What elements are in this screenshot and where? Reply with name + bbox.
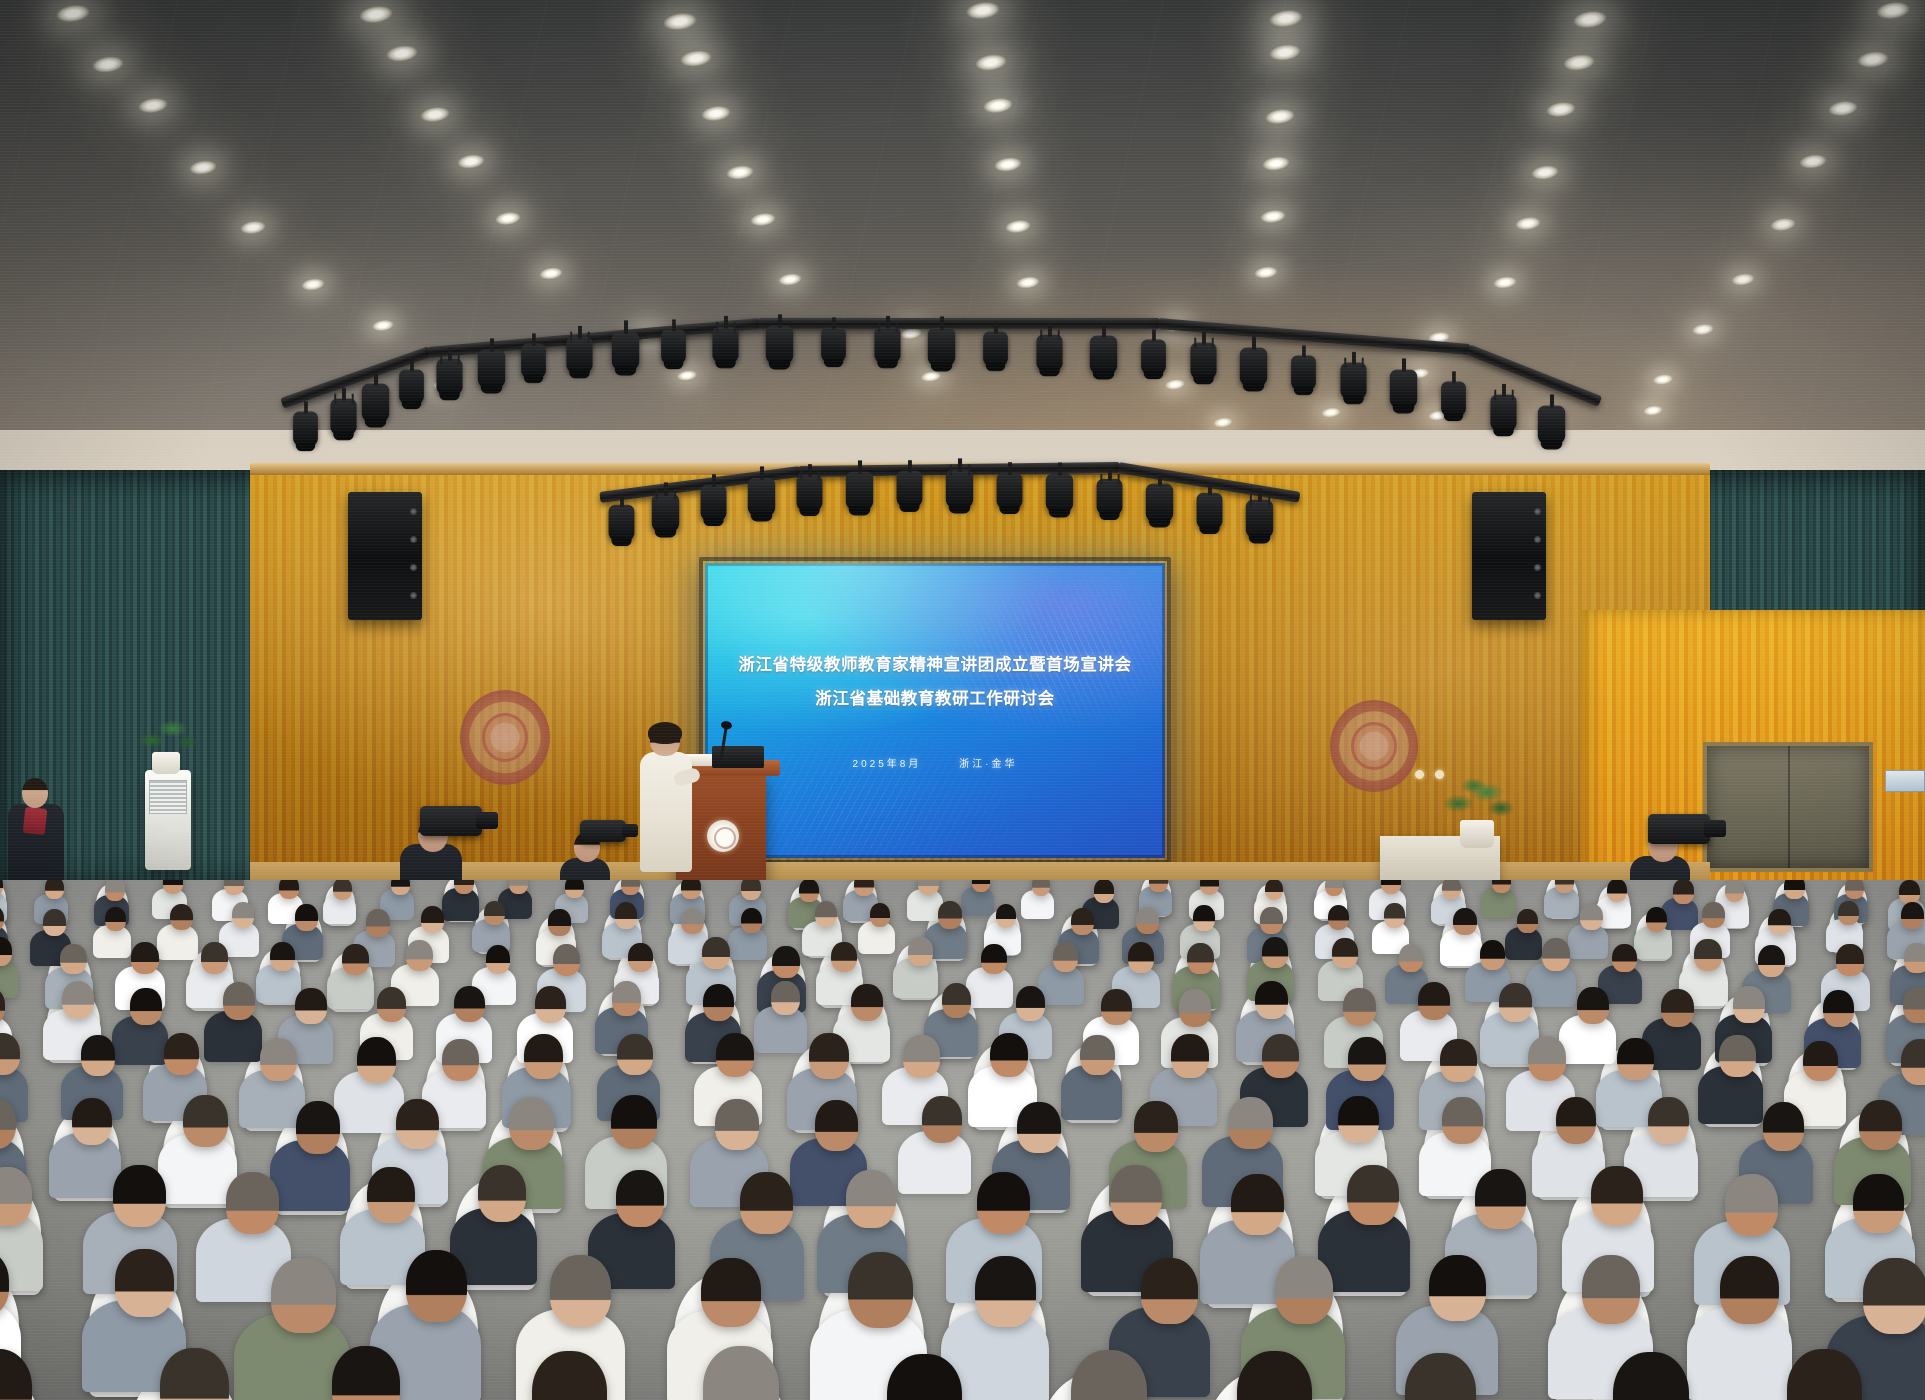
audience-member-head	[105, 880, 125, 901]
audience-member-head	[903, 1035, 940, 1078]
audience-member-head	[681, 908, 704, 935]
audience-member-head	[113, 1165, 165, 1226]
audience-member-head	[396, 1099, 439, 1149]
audience-member-head	[1836, 944, 1863, 976]
stage-light-fixture	[846, 472, 874, 511]
audience-member-head	[942, 983, 972, 1018]
audience-member-head	[1265, 880, 1284, 900]
stage-light-fixture	[609, 505, 635, 541]
audience-member-head	[1347, 1165, 1398, 1225]
audience-member-head	[1556, 1097, 1597, 1144]
audience-member-head	[1803, 1041, 1838, 1081]
audience-member-head	[1612, 944, 1637, 973]
audience-member-head	[740, 1172, 792, 1233]
stage-light-fixture	[821, 328, 846, 363]
audience-member-head	[1517, 909, 1538, 933]
audience-member-head	[1499, 983, 1532, 1021]
audience-member-head	[1016, 986, 1045, 1020]
audience-member-head	[1053, 942, 1079, 972]
stage-plant-leaves	[1440, 770, 1516, 826]
led-presentation-screen: 浙江省特级教师教育家精神宣讲团成立暨首场宣讲会 浙江省基础教育教研工作研讨会 2…	[705, 563, 1165, 858]
audience-member-head	[1348, 1037, 1386, 1081]
truss-bar	[758, 318, 1160, 329]
audience-member-head	[1384, 903, 1405, 927]
audience-member-head	[846, 1170, 896, 1229]
audience-member-head	[1838, 901, 1859, 925]
audience-member-head	[741, 908, 762, 933]
audience-member-head	[1582, 1255, 1640, 1323]
audience-member-head	[851, 984, 882, 1021]
screen-title-line-2: 浙江省基础教育教研工作研讨会	[705, 685, 1165, 709]
stage-light-fixture	[1291, 356, 1316, 391]
screen-location: 浙江·金华	[959, 759, 1017, 770]
audience-member-head	[279, 880, 299, 899]
audience-member-head	[81, 1035, 115, 1075]
audience-member-head	[1542, 938, 1570, 971]
stage-light-fixture	[748, 478, 776, 517]
stage-light-fixture	[293, 412, 318, 447]
audience-member-head	[741, 880, 761, 900]
crest-inner-ring-right	[1351, 722, 1397, 770]
audience-member-head	[1141, 1258, 1198, 1324]
audience-member-head	[870, 903, 891, 927]
audience-member-head	[1863, 1258, 1925, 1334]
audience-member-head	[715, 1099, 759, 1150]
audience-member-head	[1134, 1101, 1178, 1152]
audience-member-head	[62, 981, 94, 1019]
audience-member-head	[848, 1252, 913, 1328]
audience-member-head	[1580, 904, 1602, 930]
audience-member-head	[377, 987, 407, 1022]
audience-member-head	[1228, 1097, 1273, 1150]
audience-member-head	[611, 1095, 657, 1149]
audience-member-head	[163, 880, 183, 894]
stage-light-fixture	[436, 359, 462, 396]
audience-member-head	[342, 944, 369, 975]
audience-member-head	[809, 1033, 848, 1079]
audience-member-head	[1648, 1097, 1689, 1145]
audience-member-head	[232, 902, 254, 928]
audience-member-head	[486, 945, 511, 974]
stage-light-fixture	[712, 327, 738, 364]
audience-member-head	[1859, 1100, 1902, 1150]
audience-seating-area	[0, 880, 1925, 1400]
audience-member-head	[130, 988, 161, 1024]
audience-member-head	[701, 1258, 760, 1327]
side-exit-door[interactable]	[1703, 742, 1873, 872]
stage-light-fixture	[399, 370, 424, 405]
audience-member-head	[223, 982, 255, 1020]
audience-member-head	[981, 944, 1007, 974]
audience-member-head	[1903, 987, 1925, 1023]
audience-member-head	[1179, 989, 1211, 1026]
school-crest-emblem-left	[460, 690, 550, 785]
stage-light-fixture	[874, 327, 900, 364]
audience-member-head	[131, 942, 159, 974]
usher-neck-scarf	[23, 807, 48, 835]
stage-light-fixture	[478, 350, 506, 389]
audience-member-head	[1128, 942, 1155, 973]
camera-lens-center	[622, 824, 638, 837]
audience-member-head	[1136, 907, 1159, 934]
audience-member-head	[1255, 981, 1288, 1020]
stage-light-fixture	[1197, 493, 1223, 529]
audience-member-head	[1733, 986, 1764, 1023]
audience-member-head	[105, 907, 126, 932]
audience-member-head	[702, 937, 730, 969]
audience-member-head	[990, 1033, 1028, 1078]
audience-member-head	[296, 1101, 341, 1153]
audience-member-head	[975, 1256, 1035, 1326]
audience-member-head	[938, 901, 962, 929]
audience-member-head	[524, 1034, 563, 1079]
audience-member-head	[1661, 989, 1694, 1028]
audience-member-head	[1442, 1097, 1482, 1144]
audience-member-head	[442, 1039, 478, 1081]
audience-member-head	[535, 986, 566, 1023]
stage-light-fixture	[946, 470, 974, 509]
audience-member-head	[815, 901, 837, 927]
audience-member-head	[43, 909, 66, 936]
audience-member-head	[703, 984, 735, 1021]
exit-sign	[1885, 770, 1925, 792]
audience-member-head	[1607, 880, 1627, 902]
audience-member-head	[454, 986, 485, 1023]
audience-member-head	[1110, 1165, 1161, 1225]
audience-member-head	[1823, 990, 1855, 1027]
audience-member-head	[1343, 988, 1376, 1026]
audience-member-head	[1904, 943, 1925, 972]
stage-light-fixture	[928, 328, 956, 367]
stage-light-fixture	[1490, 395, 1516, 432]
audience-member-head	[1719, 1035, 1755, 1077]
audience-member-head	[1231, 1174, 1284, 1236]
audience-member-head	[550, 1255, 611, 1326]
audience-member-head	[226, 1172, 279, 1234]
audience-member-head	[1399, 944, 1423, 972]
stage-light-fixture	[897, 471, 923, 507]
audience-member-head	[628, 943, 653, 972]
audience-member-head	[1032, 880, 1050, 896]
audience-member-head	[1193, 905, 1215, 931]
stage-plant-pot	[1460, 820, 1494, 848]
audience-member-head	[681, 880, 700, 899]
staff-usher	[8, 778, 64, 894]
audience-member-head	[1187, 943, 1214, 974]
audience-member-head	[996, 904, 1017, 928]
audience-member-head	[1080, 1035, 1114, 1075]
audience-member-head	[1725, 1174, 1778, 1236]
audience-member-head	[478, 1165, 527, 1222]
stage-light-fixture	[701, 485, 727, 521]
audience-member-head	[1591, 1166, 1642, 1226]
audience-member-head	[1758, 945, 1786, 977]
left-plant-pot	[152, 752, 180, 774]
audience-member-head	[295, 988, 326, 1024]
audience-member-head	[1725, 880, 1745, 902]
audience-member-head	[799, 880, 819, 902]
presenter	[640, 724, 692, 872]
audience-member-head	[1901, 1039, 1925, 1084]
stage-light-fixture	[1046, 474, 1074, 513]
audience-member-head	[224, 880, 244, 895]
screen-date: 2025年8月	[853, 759, 922, 770]
stage-light-fixture	[652, 494, 680, 533]
audience-member-head	[45, 880, 64, 899]
audience-member-head	[1480, 940, 1505, 970]
stage-light-fixture	[661, 330, 686, 365]
audience-member-head	[1673, 880, 1694, 904]
stage-light-fixture	[1090, 336, 1118, 375]
stage-light-fixture	[1441, 382, 1466, 417]
audience-member-head	[357, 1037, 396, 1083]
stage-light-fixture	[1538, 406, 1566, 445]
audience-member-head	[918, 880, 938, 895]
audience-member-head	[615, 902, 638, 929]
presenter-hair	[648, 722, 682, 744]
audience-member-head	[183, 1095, 227, 1147]
audience-member-head	[1646, 907, 1667, 932]
audience-member-head	[60, 944, 86, 975]
audience-member-head	[509, 1097, 555, 1150]
audience-member-head	[295, 904, 318, 931]
audience-member-head	[548, 909, 571, 935]
audience-member-head	[1328, 905, 1350, 931]
audience-member-head	[617, 1034, 652, 1075]
audience-member-head	[1071, 908, 1094, 935]
stage-light-fixture	[521, 344, 546, 379]
auditorium-scene: 浙江省特级教师教育家精神宣讲团成立暨首场宣讲会 浙江省基础教育教研工作研讨会 2…	[0, 0, 1925, 1400]
stage-light-fixture	[1141, 340, 1166, 375]
audience-member-head	[366, 909, 390, 936]
audience-member-head	[1577, 987, 1608, 1024]
audience-member-head	[1453, 908, 1477, 936]
audience-member-head	[406, 1250, 468, 1322]
video-camera-left	[420, 806, 482, 836]
audience-member-head	[1262, 937, 1288, 967]
audience-member-head	[1899, 880, 1920, 904]
audience-member-head	[1845, 880, 1864, 899]
audience-member-head	[1325, 880, 1343, 896]
audience-member-head	[270, 942, 295, 971]
audience-member-head	[1429, 1255, 1486, 1321]
audience-member-head	[553, 944, 580, 976]
audience-member-head	[1853, 1174, 1903, 1233]
audience-member-head	[1763, 1102, 1804, 1150]
audience-member-head	[612, 981, 642, 1015]
stage-light-fixture	[997, 473, 1023, 509]
audience-member-head	[1440, 1039, 1477, 1082]
stage-light-fixture	[1190, 343, 1216, 380]
video-camera-center	[580, 820, 626, 842]
audience-member-head	[1617, 1038, 1654, 1081]
audience-member-head	[772, 946, 799, 978]
stage-light-fixture	[1390, 370, 1418, 409]
stage-light-fixture	[330, 399, 356, 436]
audience-member-head	[115, 1249, 173, 1317]
video-camera-right	[1648, 814, 1710, 844]
crest-inner-ring-left	[482, 713, 529, 762]
audience-member-head	[333, 880, 352, 900]
camera-lens-left	[476, 812, 498, 829]
stage-light-fixture	[983, 332, 1008, 367]
line-array-speaker-right	[1472, 492, 1546, 620]
line-array-speaker-left	[348, 492, 422, 620]
audience-member-head	[716, 1033, 754, 1077]
audience-member-head	[1332, 938, 1357, 968]
stage-light-fixture	[1240, 348, 1268, 387]
audience-member-head	[72, 1098, 113, 1145]
portable-air-conditioner	[145, 770, 191, 870]
podium-emblem	[707, 820, 739, 852]
stage-light-fixture	[362, 384, 390, 423]
stage-light-fixture	[1097, 479, 1123, 515]
audience-member-head	[201, 942, 228, 973]
audience-member-head	[1901, 902, 1925, 929]
camera-lens-right	[1704, 820, 1726, 837]
audience-member-head	[1768, 909, 1791, 936]
school-crest-emblem-right	[1330, 700, 1418, 792]
audience-member-head	[815, 1100, 858, 1150]
audience-member-head	[367, 1167, 415, 1223]
screen-title-line-1: 浙江省特级教师教育家精神宣讲团成立暨首场宣讲会	[705, 651, 1165, 675]
audience-member-head	[271, 1258, 335, 1333]
audience-member-head	[1528, 1036, 1567, 1081]
stage-light-fixture	[797, 475, 823, 511]
audience-member-head	[484, 901, 505, 925]
audience-member-head	[1702, 902, 1724, 928]
audience-member-head	[1475, 1169, 1526, 1229]
audience-member-head	[1260, 907, 1283, 933]
audience-member-head	[391, 880, 410, 895]
audience-member-head	[1784, 880, 1804, 899]
audience-member-head	[164, 1033, 200, 1074]
audience-member-head	[1094, 880, 1114, 903]
stage-light-fixture	[612, 332, 640, 371]
audience-member-head	[421, 906, 444, 933]
audience-member-head	[616, 1170, 664, 1227]
audience-member-head	[977, 1172, 1030, 1234]
audience-member-head	[170, 904, 193, 931]
audience-member-head	[1017, 1102, 1061, 1153]
audience-member-head	[260, 1038, 297, 1081]
stage-light-fixture	[1340, 363, 1366, 400]
usher-head	[22, 778, 48, 808]
audience-member-head	[922, 1096, 962, 1143]
audience-member-head	[1694, 939, 1721, 971]
audience-member-head	[1171, 1034, 1208, 1078]
stage-light-fixture	[1246, 500, 1274, 539]
audience-member-head	[1418, 982, 1450, 1020]
stage-light-fixture	[766, 326, 794, 365]
audience-member-head	[908, 937, 933, 966]
audience-member-head	[1275, 1256, 1333, 1324]
audience-member-head	[1101, 989, 1132, 1025]
audience-member-head	[1338, 1096, 1379, 1143]
air-conditioner-grill	[149, 780, 187, 814]
audience-member-head	[1720, 1256, 1779, 1324]
audience-member-head	[1262, 1034, 1300, 1078]
audience-member-head	[831, 942, 857, 972]
stage-light-fixture	[1036, 335, 1062, 372]
audience-member-head	[406, 940, 433, 971]
stage-light-fixture	[1146, 484, 1174, 523]
audience-member-head	[771, 981, 800, 1015]
audience-member-head	[854, 880, 874, 896]
stage-light-fixture	[566, 337, 592, 374]
